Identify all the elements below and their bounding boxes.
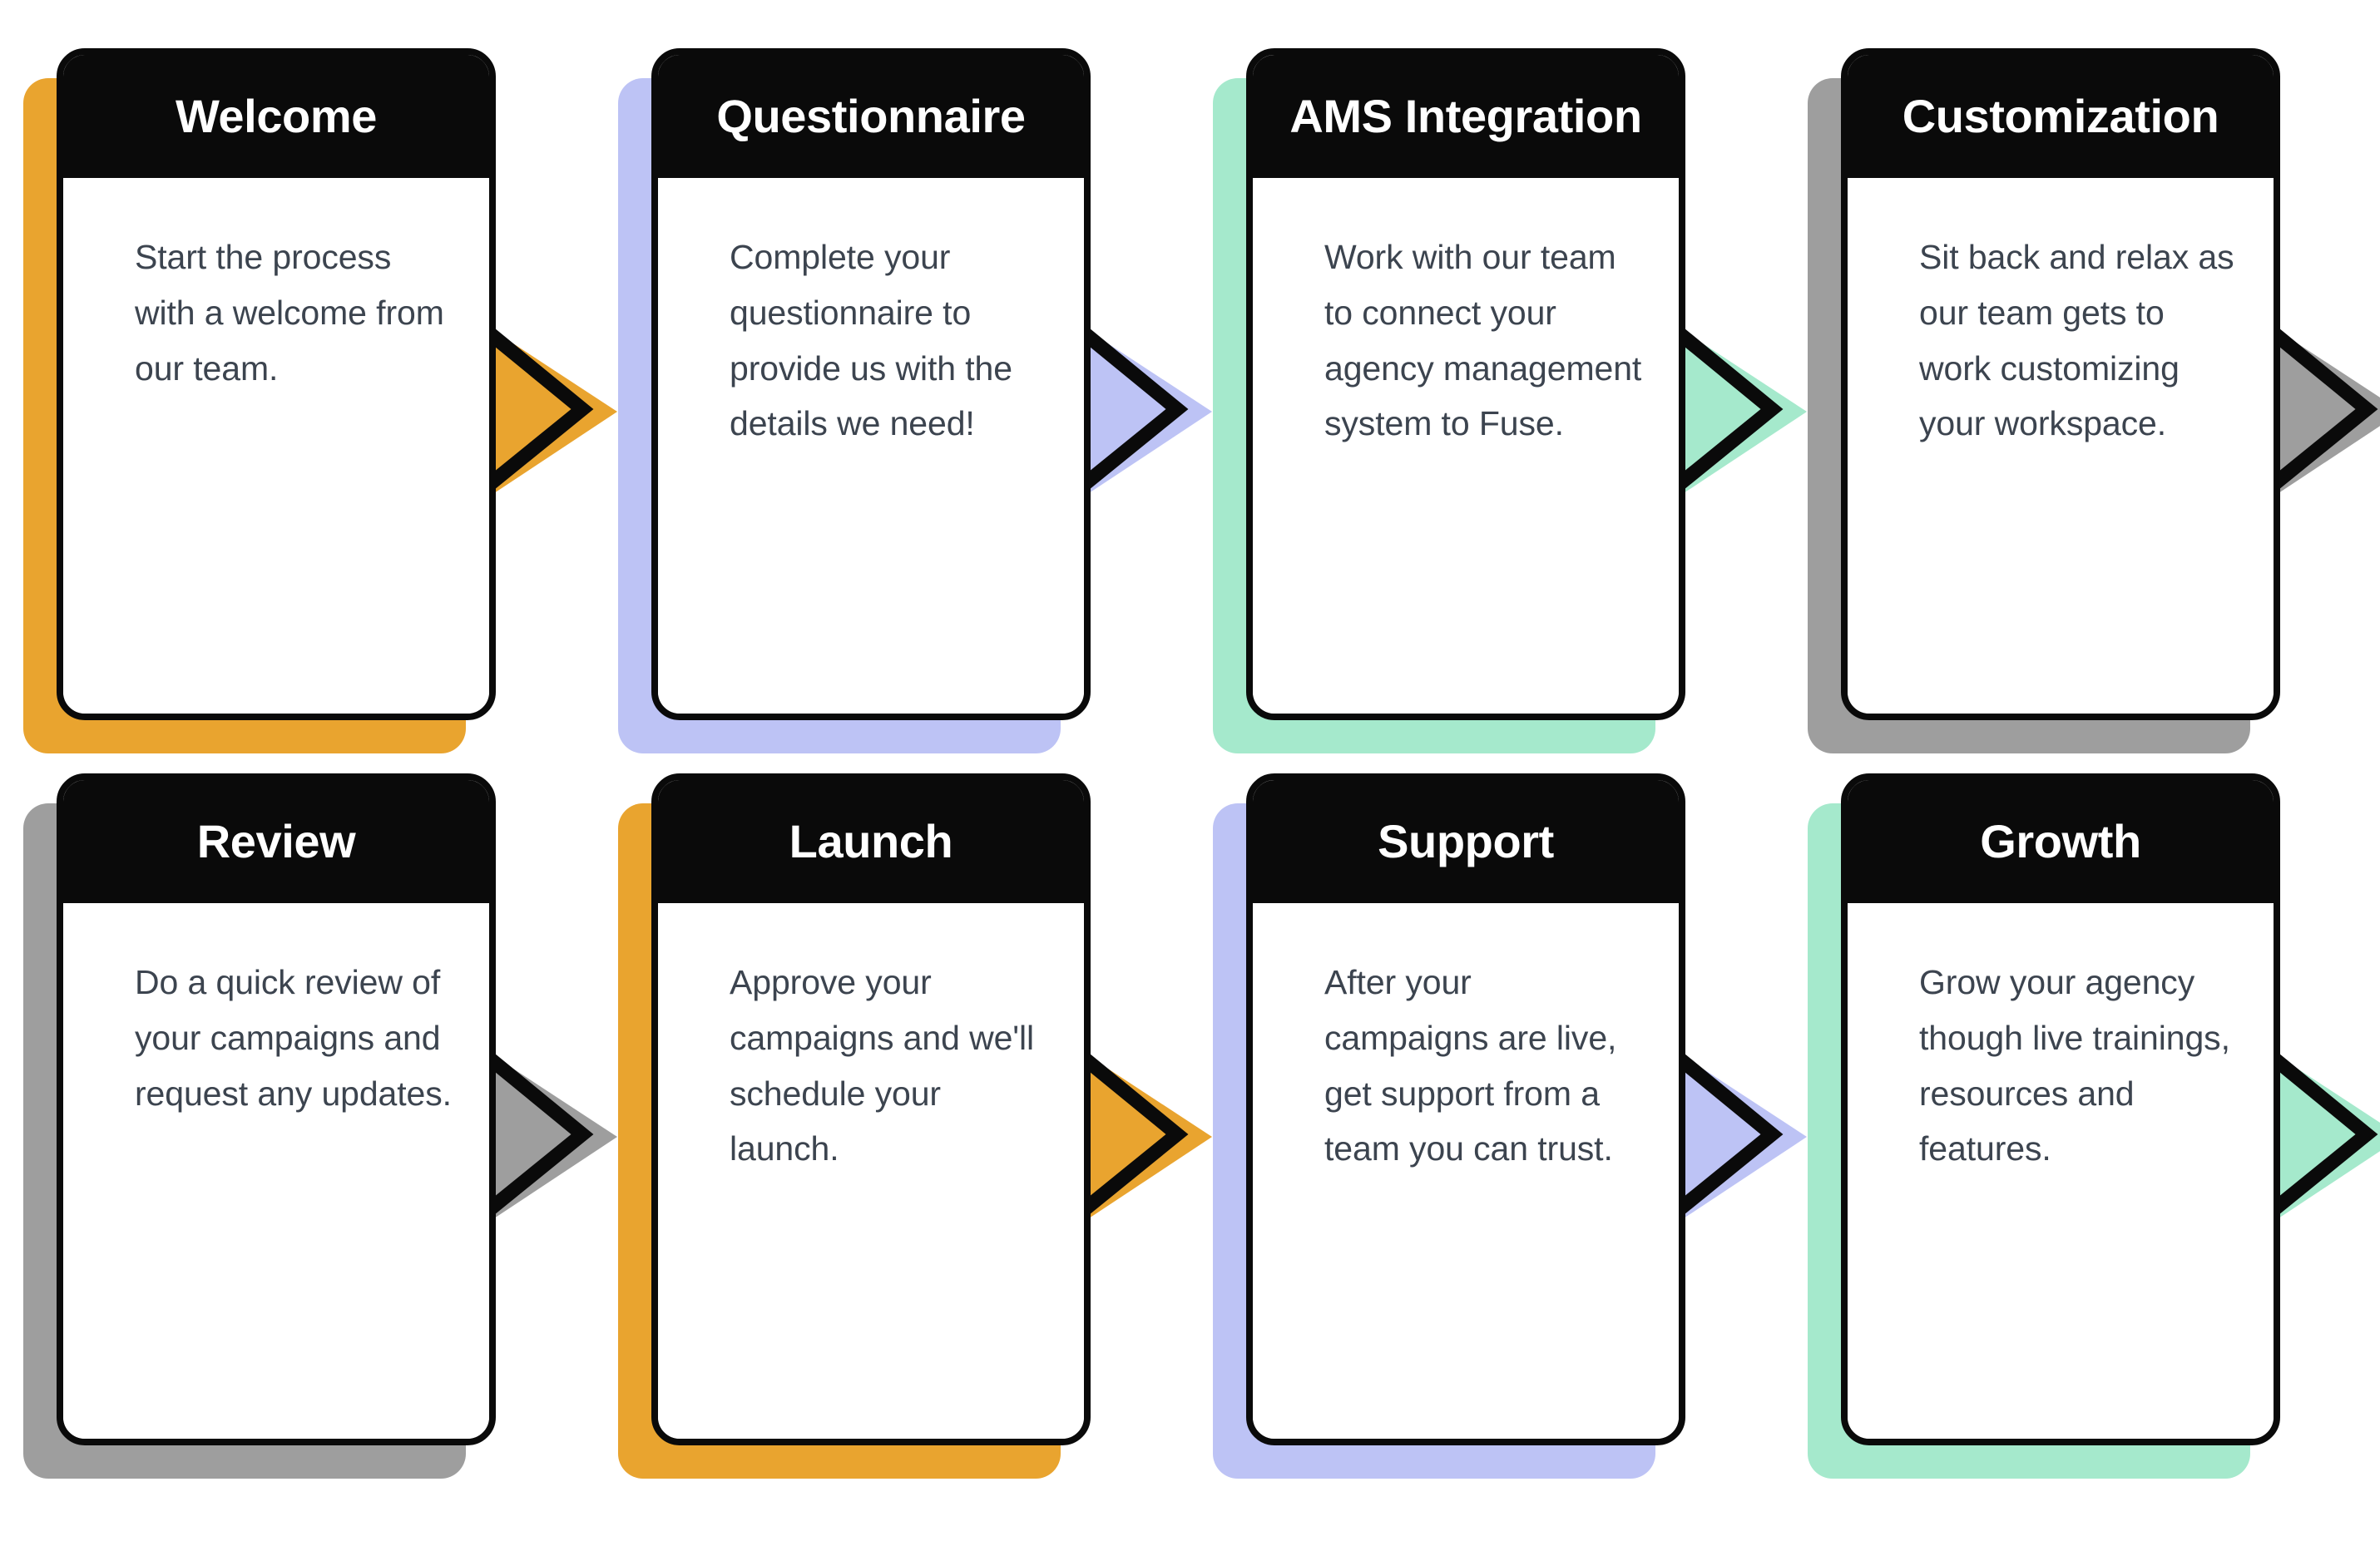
step-card-4[interactable]: Customization Sit back and relax as our …	[1841, 48, 2280, 720]
card-description-8: Grow your agency though live trainings, …	[1919, 955, 2237, 1177]
card-body-4: Sit back and relax as our team gets to w…	[1848, 178, 2274, 720]
card-body-8: Grow your agency though live trainings, …	[1848, 903, 2274, 1445]
card-description-6: Approve your campaigns and we'll schedul…	[730, 955, 1047, 1177]
step-cell-7: Support After your campaigns are live, g…	[1190, 773, 1784, 1484]
process-board: Welcome Start the process with a welcome…	[0, 0, 2380, 1541]
chevron-right-icon-7	[1665, 1048, 1812, 1227]
step-cell-2: Questionnaire Complete your questionnair…	[595, 48, 1190, 759]
step-card-6[interactable]: Launch Approve your campaigns and we'll …	[651, 773, 1091, 1445]
step-card-8[interactable]: Growth Grow your agency though live trai…	[1841, 773, 2280, 1445]
card-description-4: Sit back and relax as our team gets to w…	[1919, 230, 2237, 452]
process-row-2: Review Do a quick review of your campaig…	[0, 773, 2380, 1484]
card-body-3: Work with our team to connect your agenc…	[1253, 178, 1679, 720]
step-cell-1: Welcome Start the process with a welcome…	[0, 48, 595, 759]
card-title-3: AMS Integration	[1289, 92, 1641, 141]
chevron-right-icon-1	[476, 323, 622, 501]
card-description-2: Complete your questionnaire to provide u…	[730, 230, 1047, 452]
card-header-4: Customization	[1848, 55, 2274, 178]
card-header-7: Support	[1253, 780, 1679, 903]
card-title-5: Review	[197, 817, 356, 867]
card-description-3: Work with our team to connect your agenc…	[1324, 230, 1642, 452]
card-description-5: Do a quick review of your campaigns and …	[135, 955, 453, 1121]
card-header-6: Launch	[658, 780, 1084, 903]
card-title-8: Growth	[1980, 817, 2141, 867]
card-title-6: Launch	[789, 817, 953, 867]
card-body-6: Approve your campaigns and we'll schedul…	[658, 903, 1084, 1445]
card-body-7: After your campaigns are live, get suppo…	[1253, 903, 1679, 1445]
card-header-5: Review	[63, 780, 489, 903]
chevron-right-icon-6	[1071, 1048, 1217, 1227]
card-title-4: Customization	[1903, 92, 2219, 141]
step-card-5[interactable]: Review Do a quick review of your campaig…	[57, 773, 496, 1445]
step-cell-3: AMS Integration Work with our team to co…	[1190, 48, 1784, 759]
card-header-1: Welcome	[63, 55, 489, 178]
card-title-2: Questionnaire	[716, 92, 1025, 141]
card-header-2: Questionnaire	[658, 55, 1084, 178]
chevron-right-icon-5	[476, 1048, 622, 1227]
card-description-1: Start the process with a welcome from ou…	[135, 230, 453, 396]
card-header-3: AMS Integration	[1253, 55, 1679, 178]
step-card-2[interactable]: Questionnaire Complete your questionnair…	[651, 48, 1091, 720]
card-body-5: Do a quick review of your campaigns and …	[63, 903, 489, 1445]
card-header-8: Growth	[1848, 780, 2274, 903]
card-title-7: Support	[1378, 817, 1554, 867]
step-card-3[interactable]: AMS Integration Work with our team to co…	[1246, 48, 1685, 720]
card-title-1: Welcome	[176, 92, 377, 141]
card-description-7: After your campaigns are live, get suppo…	[1324, 955, 1642, 1177]
chevron-right-icon-2	[1071, 323, 1217, 501]
chevron-right-icon-3	[1665, 323, 1812, 501]
step-cell-6: Launch Approve your campaigns and we'll …	[595, 773, 1190, 1484]
process-row-1: Welcome Start the process with a welcome…	[0, 48, 2380, 759]
step-card-7[interactable]: Support After your campaigns are live, g…	[1246, 773, 1685, 1445]
step-cell-5: Review Do a quick review of your campaig…	[0, 773, 595, 1484]
step-cell-8: Growth Grow your agency though live trai…	[1784, 773, 2379, 1484]
card-body-2: Complete your questionnaire to provide u…	[658, 178, 1084, 720]
card-body-1: Start the process with a welcome from ou…	[63, 178, 489, 720]
step-card-1[interactable]: Welcome Start the process with a welcome…	[57, 48, 496, 720]
step-cell-4: Customization Sit back and relax as our …	[1784, 48, 2379, 759]
